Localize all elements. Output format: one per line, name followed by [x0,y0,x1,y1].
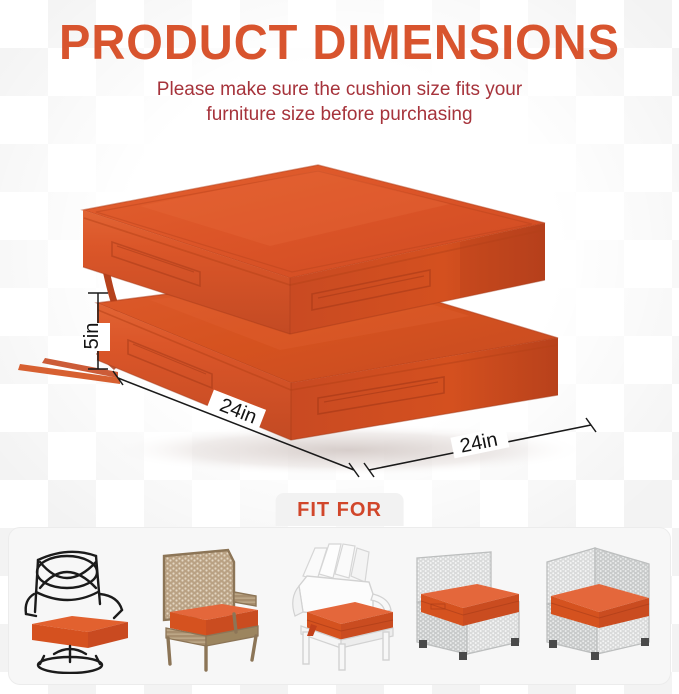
wicker-armless-sectional-seat-icon [407,532,531,674]
wicker-dining-armchair-icon [148,532,272,674]
fit-for-badge: FIT FOR [275,493,404,526]
fit-for-label: FIT FOR [297,500,382,520]
fit-for-item-wicker-dining-armchair [145,527,275,678]
page-title: PRODUCT DIMENSIONS [14,0,666,69]
fit-for-item-wicker-armless-sectional-seat [404,527,534,678]
adirondack-chair-icon [277,532,401,674]
infographic-root: PRODUCT DIMENSIONS Please make sure the … [0,0,679,694]
cushion-stack-diagram: 5in 24in 24in 5in 24in 24in [0,150,679,480]
height-label-text: 5in [81,323,103,350]
product-illustration: 5in 24in 24in 5in 24in 24in [0,150,679,480]
fit-for-panel [8,527,671,685]
wicker-corner-sectional-seat-icon [537,532,661,674]
fit-for-item-adirondack-chair [275,527,405,678]
fit-for-item-swivel-metal-patio-chair [15,527,145,678]
fit-for-items [9,528,670,684]
swivel-metal-patio-chair-icon [18,532,142,674]
fit-for-item-wicker-corner-sectional-seat [534,527,664,678]
header: PRODUCT DIMENSIONS Please make sure the … [0,0,679,127]
page-subtitle: Please make sure the cushion size fits y… [125,77,555,127]
cushion [32,616,128,648]
